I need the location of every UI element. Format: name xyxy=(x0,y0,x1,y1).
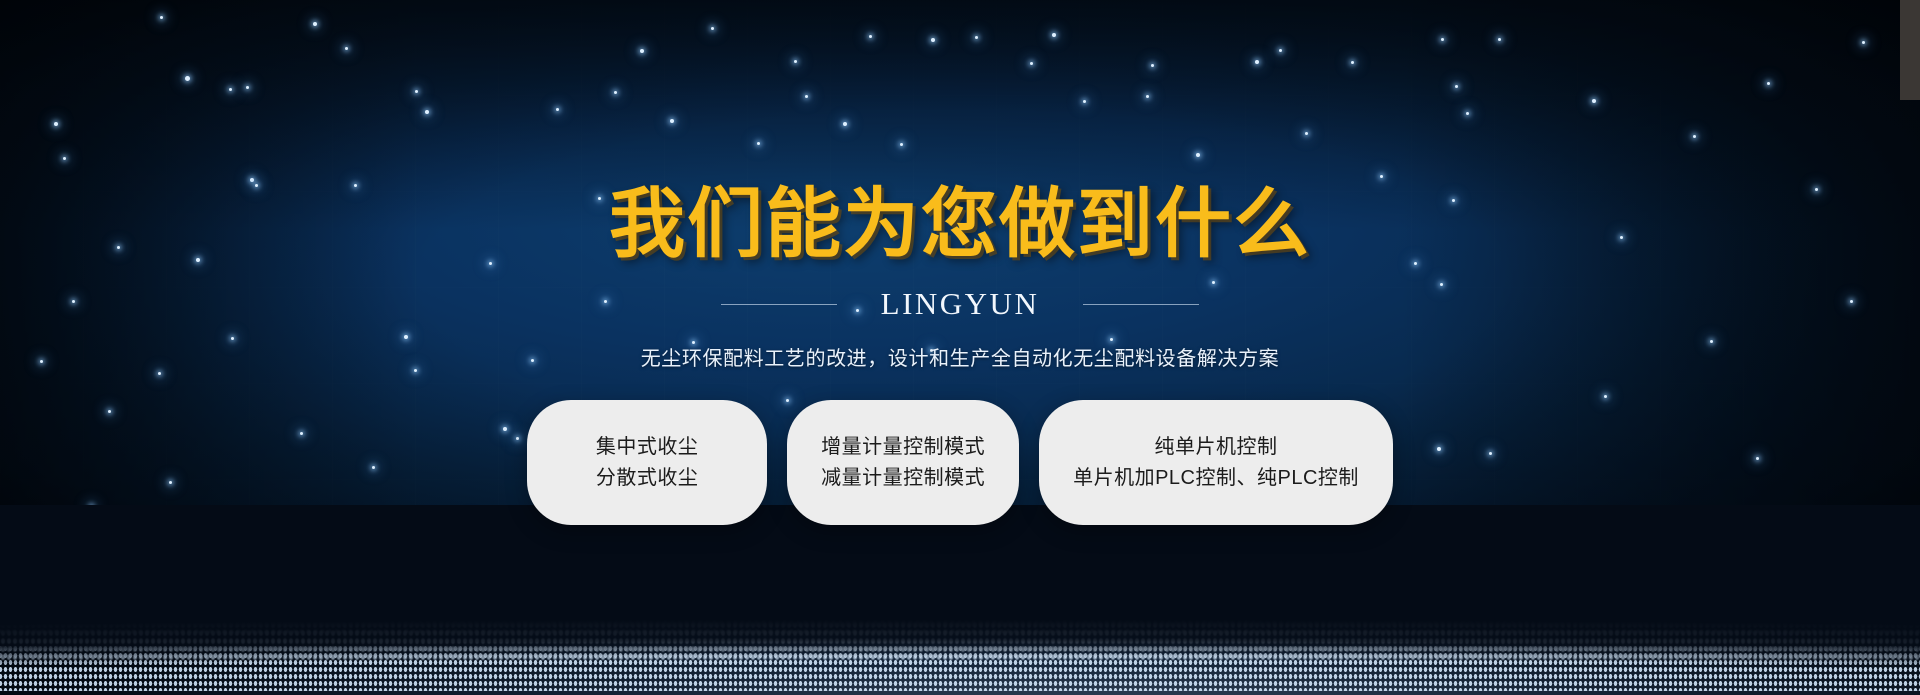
banner-stage: 我们能为您做到什么 LINGYUN 无尘环保配料工艺的改进，设计和生产全自动化无… xyxy=(0,0,1920,695)
page-title: 我们能为您做到什么 xyxy=(609,186,1311,262)
feature-card-dust-collection[interactable]: 集中式收尘 分散式收尘 xyxy=(527,400,767,525)
feature-card-line-2: 减量计量控制模式 xyxy=(821,468,985,488)
feature-card-metering-mode[interactable]: 增量计量控制模式 减量计量控制模式 xyxy=(787,400,1019,525)
feature-card-list: 集中式收尘 分散式收尘 增量计量控制模式 减量计量控制模式 纯单片机控制 单片机… xyxy=(527,400,1393,525)
feature-card-line-1: 集中式收尘 xyxy=(596,437,699,457)
banner-content: 我们能为您做到什么 LINGYUN 无尘环保配料工艺的改进，设计和生产全自动化无… xyxy=(0,0,1920,695)
feature-card-line-2: 单片机加PLC控制、纯PLC控制 xyxy=(1073,468,1359,488)
page-description: 无尘环保配料工艺的改进，设计和生产全自动化无尘配料设备解决方案 xyxy=(641,342,1280,371)
feature-card-line-1: 增量计量控制模式 xyxy=(821,437,985,457)
scrollbar-thumb[interactable] xyxy=(1900,0,1920,100)
subtitle-row: LINGYUN xyxy=(721,286,1200,322)
brand-subtitle: LINGYUN xyxy=(881,286,1040,322)
divider-right xyxy=(1083,304,1199,305)
scrollbar-track[interactable] xyxy=(1900,0,1920,695)
feature-card-control-system[interactable]: 纯单片机控制 单片机加PLC控制、纯PLC控制 xyxy=(1039,400,1393,525)
feature-card-line-2: 分散式收尘 xyxy=(596,468,699,488)
feature-card-line-1: 纯单片机控制 xyxy=(1155,437,1278,457)
divider-left xyxy=(721,304,837,305)
